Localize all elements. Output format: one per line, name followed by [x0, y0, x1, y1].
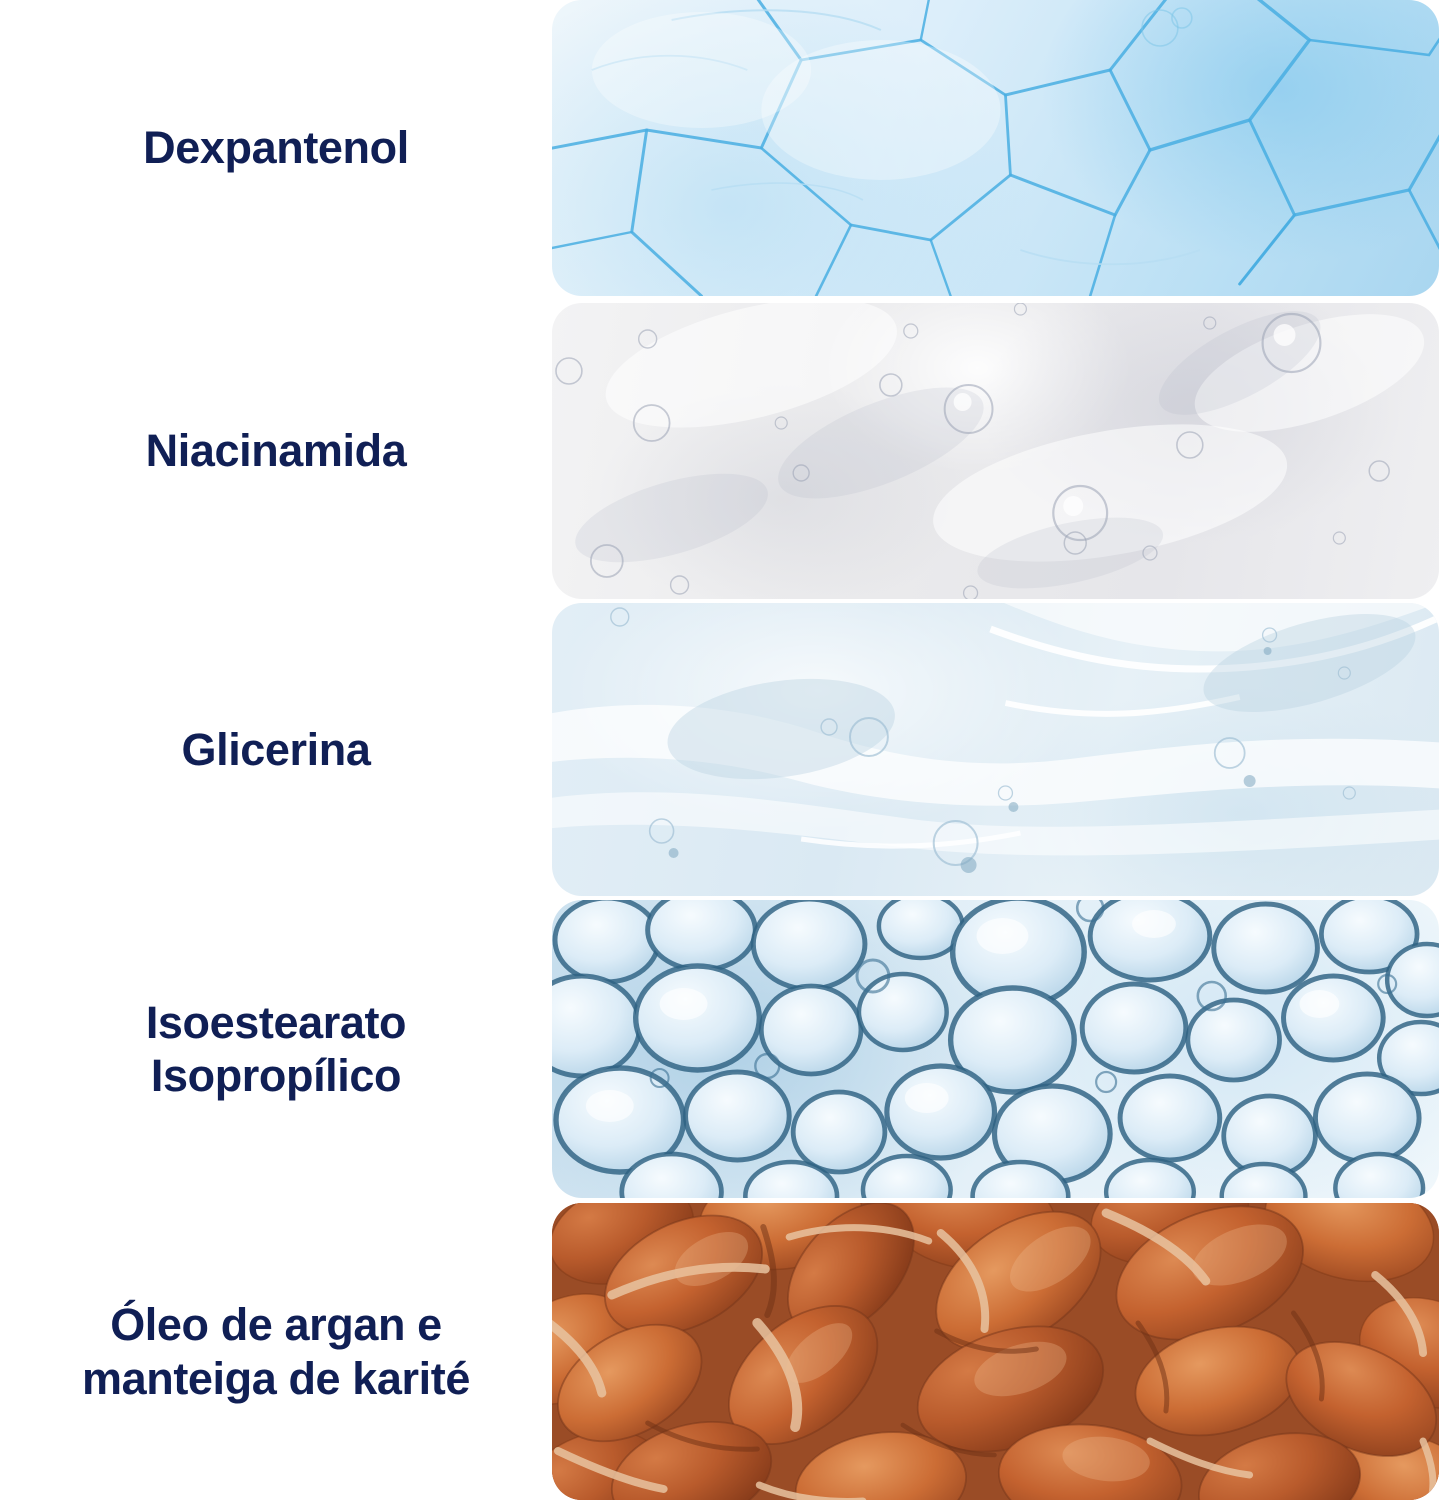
- ingredient-swatch-oleo-de-argan-manteiga-de-karite: [552, 1203, 1439, 1500]
- ingredient-infographic: Dexpantenol: [0, 0, 1439, 1500]
- blue-gel-smear-icon: [552, 603, 1439, 896]
- ingredient-label-cell-glicerina: Glicerina: [0, 723, 552, 776]
- ingredient-label-cell-niacinamida: Niacinamida: [0, 424, 552, 477]
- ingredient-row-oleo-de-argan-manteiga-de-karite: Óleo de argan e manteiga de karité: [0, 1203, 1439, 1500]
- clear-gel-bubbles-icon: [552, 303, 1439, 599]
- blue-foam-network-icon: [552, 0, 1439, 296]
- ingredient-row-glicerina: Glicerina: [0, 603, 1439, 896]
- ingredient-label-glicerina: Glicerina: [182, 723, 371, 776]
- ingredient-label-niacinamida: Niacinamida: [146, 424, 407, 477]
- ingredient-label-isoestearato-isopropilico: Isoestearato Isopropílico: [146, 996, 406, 1102]
- ingredient-row-isoestearato-isopropilico: Isoestearato Isopropílico: [0, 900, 1439, 1198]
- ingredient-swatch-glicerina: [552, 603, 1439, 896]
- gel-highlight-2: [1005, 697, 1239, 714]
- ingredient-label-cell-oleo-de-argan-manteiga-de-karite: Óleo de argan e manteiga de karité: [0, 1298, 552, 1404]
- dense-bubble-foam-icon: [552, 900, 1439, 1198]
- ingredient-label-oleo-de-argan-manteiga-de-karite: Óleo de argan e manteiga de karité: [82, 1298, 470, 1404]
- ingredient-label-cell-dexpantenol: Dexpantenol: [0, 121, 552, 174]
- ingredient-row-niacinamida: Niacinamida: [0, 303, 1439, 599]
- ingredient-swatch-isoestearato-isopropilico: [552, 900, 1439, 1198]
- ingredient-swatch-dexpantenol: [552, 0, 1439, 296]
- ingredient-label-cell-isoestearato-isopropilico: Isoestearato Isopropílico: [0, 996, 552, 1102]
- ingredient-row-dexpantenol: Dexpantenol: [0, 0, 1439, 296]
- argan-nuts-icon: [552, 1203, 1439, 1500]
- ingredient-swatch-niacinamida: [552, 303, 1439, 599]
- ingredient-label-dexpantenol: Dexpantenol: [143, 121, 409, 174]
